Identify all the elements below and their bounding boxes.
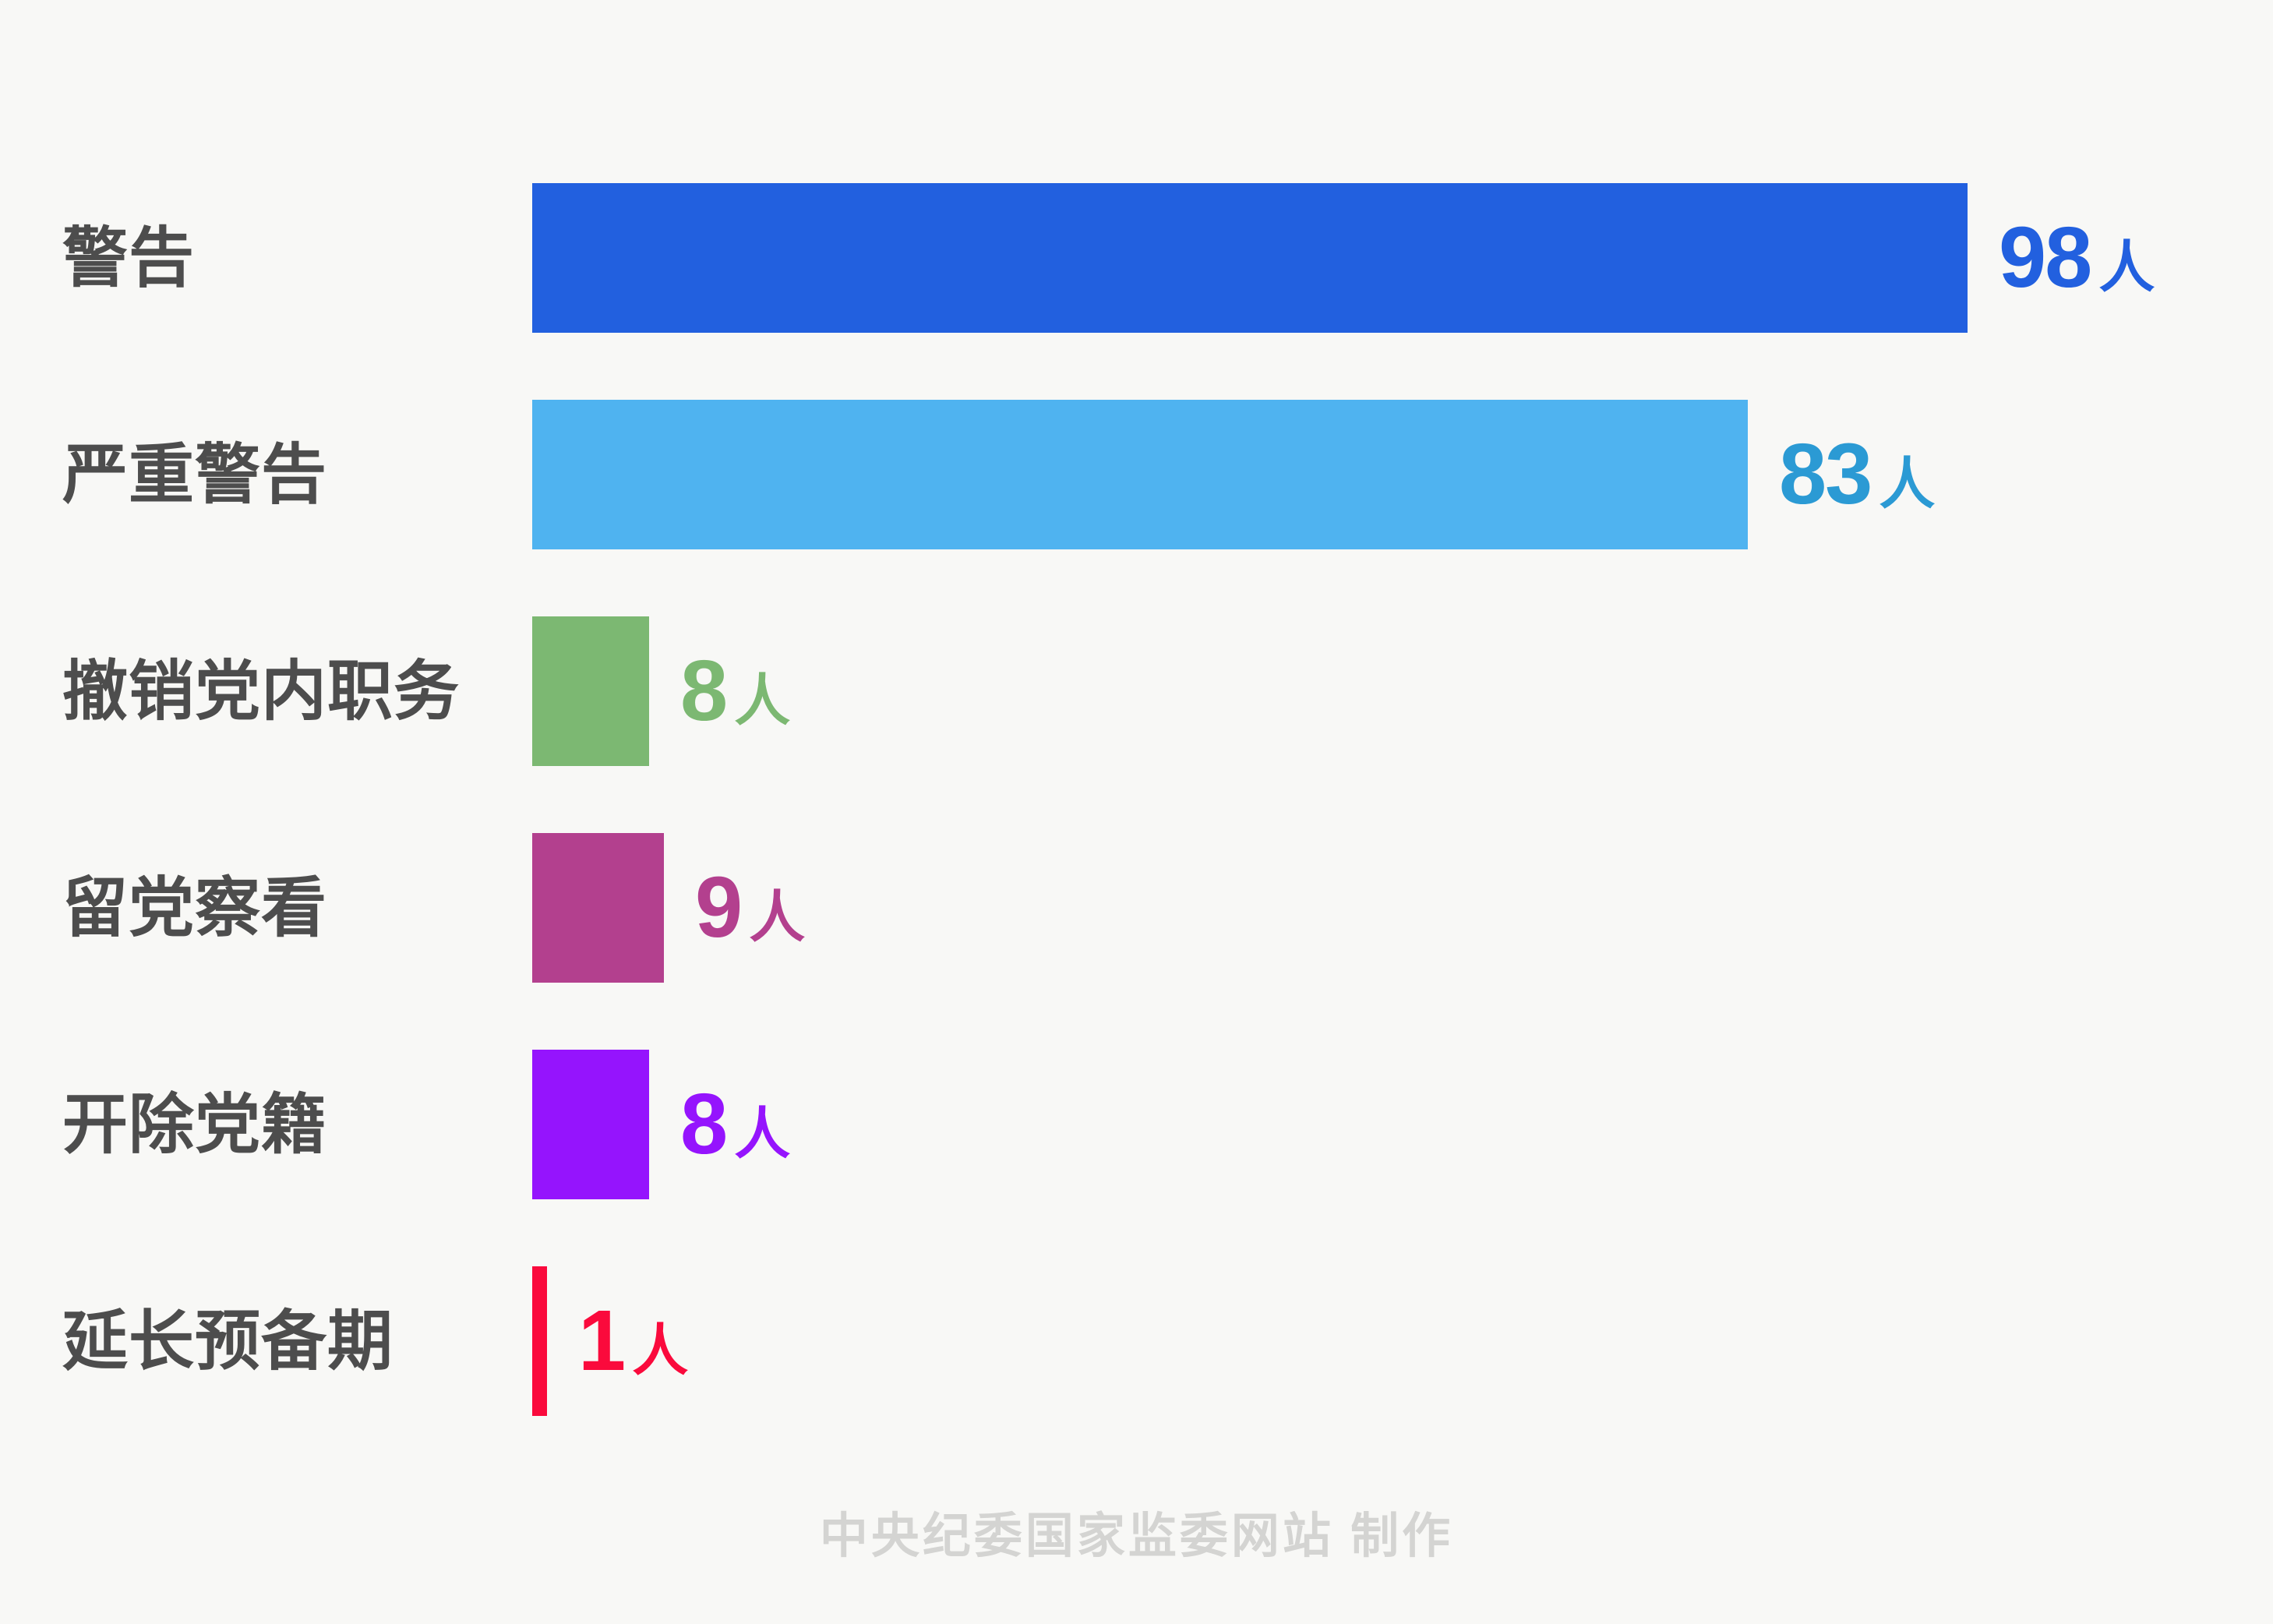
bar <box>532 400 1748 549</box>
bar-row: 警告98人 <box>0 183 2273 333</box>
value-unit: 人 <box>734 670 790 733</box>
value-number: 1 <box>578 1293 624 1389</box>
bar <box>532 183 1968 333</box>
bar <box>532 616 649 766</box>
bar-row: 撤销党内职务8人 <box>0 616 2273 766</box>
bar <box>532 1050 649 1199</box>
value-number: 8 <box>680 643 726 739</box>
value-label: 8人 <box>680 1050 790 1199</box>
value-number: 83 <box>1779 426 1871 522</box>
bar-row: 留党察看9人 <box>0 833 2273 983</box>
category-label: 撤销党内职务 <box>62 616 460 766</box>
value-unit: 人 <box>632 1320 688 1382</box>
value-label: 8人 <box>680 616 790 766</box>
bar <box>532 833 664 983</box>
value-unit: 人 <box>734 1103 790 1166</box>
value-number: 8 <box>680 1076 726 1172</box>
chart-footer-credit: 中央纪委国家监委网站 制作 <box>0 1496 2273 1566</box>
value-unit: 人 <box>749 887 805 949</box>
value-unit: 人 <box>1879 454 1935 516</box>
bar <box>532 1266 547 1416</box>
bar-row: 延长预备期1人 <box>0 1266 2273 1416</box>
value-label: 9人 <box>695 833 805 983</box>
value-label: 83人 <box>1779 400 1935 549</box>
value-number: 9 <box>695 860 741 955</box>
value-label: 98人 <box>1999 183 2155 333</box>
bar-row: 开除党籍8人 <box>0 1050 2273 1199</box>
category-label: 警告 <box>62 183 195 333</box>
category-label: 严重警告 <box>62 400 327 549</box>
value-label: 1人 <box>578 1266 688 1416</box>
category-label: 延长预备期 <box>62 1266 394 1416</box>
category-label: 留党察看 <box>62 833 327 983</box>
value-number: 98 <box>1999 210 2091 305</box>
bar-chart: 警告98人严重警告83人撤销党内职务8人留党察看9人开除党籍8人延长预备期1人 <box>0 0 2273 1624</box>
category-label: 开除党籍 <box>62 1050 327 1199</box>
bar-row: 严重警告83人 <box>0 400 2273 549</box>
value-unit: 人 <box>2098 237 2155 299</box>
